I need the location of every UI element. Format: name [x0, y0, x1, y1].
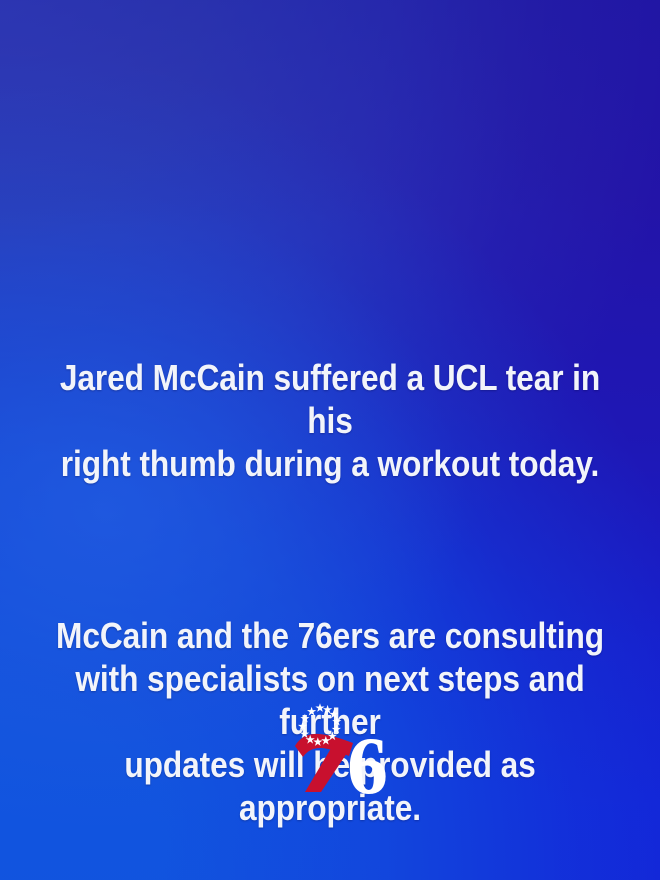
announcement-paragraph-1: Jared McCain suffered a UCL tear in his …: [40, 356, 621, 485]
six-glyph-white: 6: [347, 720, 388, 796]
injury-update-graphic: Jared McCain suffered a UCL tear in his …: [0, 0, 660, 880]
philadelphia-76ers-logo: 6: [287, 700, 391, 796]
